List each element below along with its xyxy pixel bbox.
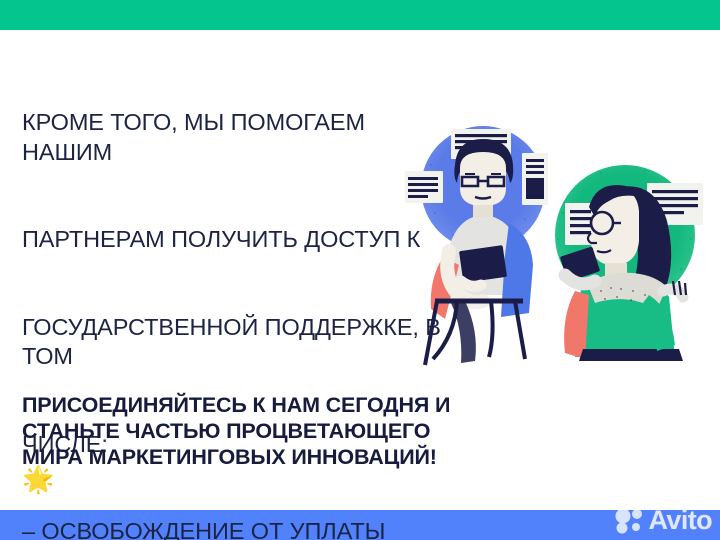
cta-line: МИРА МАРКЕТИНГОВЫХ ИННОВАЦИЙ! [22,444,472,470]
body-line: ПАРТНЕРАМ ПОЛУЧИТЬ ДОСТУП К [22,225,442,254]
avito-dots-logo [614,508,644,534]
body-line: КРОМЕ ТОГО, МЫ ПОМОГАЕМ НАШИМ [22,108,442,166]
call-to-action-paragraph: ПРИСОЕДИНЯЙТЕСЬ К НАМ СЕГОДНЯ И СТАНЬТЕ … [22,392,472,470]
avito-watermark: Avito [614,507,713,534]
two-people-with-phones-illustration [405,105,720,405]
top-green-bar [0,0,720,30]
document-card [522,153,548,205]
slide-canvas: КРОМЕ ТОГО, МЫ ПОМОГАЕМ НАШИМ ПАРТНЕРАМ … [0,0,720,540]
woman-seat [579,349,683,361]
boy-shadow [451,301,476,363]
glowing-star-icon: 🌟 [22,466,54,492]
avito-wordmark: Avito [649,507,713,534]
body-line: – ОСВОБОЖДЕНИЕ ОТ УПЛАТЫ НДФЛ [22,517,442,540]
cta-line: СТАНЬТЕ ЧАСТЬЮ ПРОЦВЕТАЮЩЕГО [22,418,472,444]
cta-line: ПРИСОЕДИНЯЙТЕСЬ К НАМ СЕГОДНЯ И [22,392,472,418]
body-line: ГОСУДАРСТВЕННОЙ ПОДДЕРЖКЕ, В ТОМ [22,313,442,371]
